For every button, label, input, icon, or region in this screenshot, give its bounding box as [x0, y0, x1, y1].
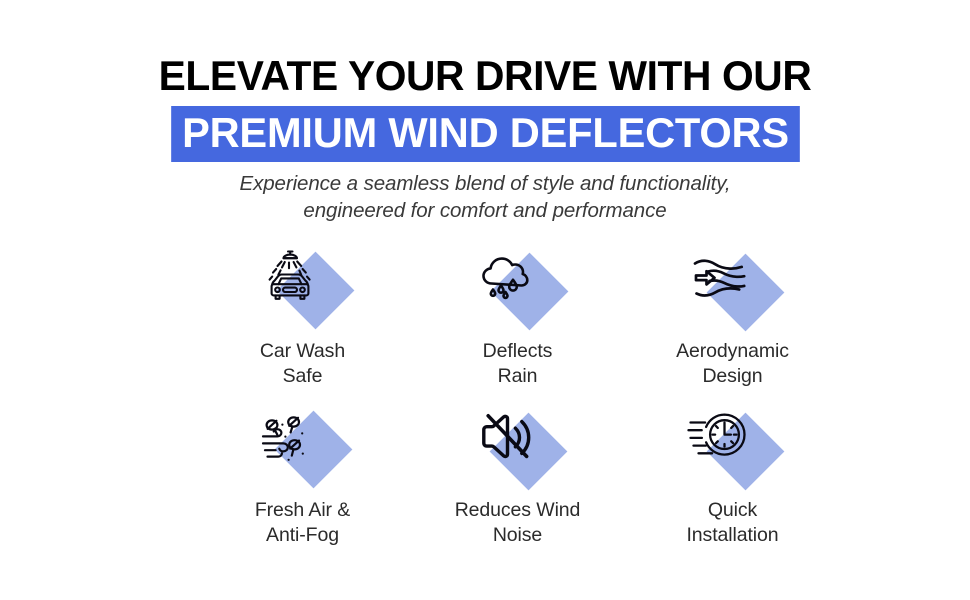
leaves-wind-icon	[258, 406, 322, 470]
feature-label: Aerodynamic Design	[625, 339, 840, 389]
feature-label: Reduces Wind Noise	[410, 498, 625, 548]
icon-stage	[678, 243, 788, 327]
subtitle-line-1: Experience a seamless blend of style and…	[0, 170, 970, 197]
feature-label: Deflects Rain	[410, 339, 625, 389]
promo-banner: ELEVATE YOUR DRIVE WITH OUR PREMIUM WIND…	[0, 0, 970, 600]
feature-label-line-2: Safe	[195, 364, 410, 389]
car-wash-icon	[258, 245, 322, 309]
icon-stage	[248, 402, 358, 486]
feature-label-line-1: Fresh Air &	[195, 498, 410, 523]
headline-highlight-wrap: PREMIUM WIND DEFLECTORS	[0, 106, 970, 162]
feature-label-line-2: Anti-Fog	[195, 523, 410, 548]
subtitle-line-2: engineered for comfort and performance	[0, 197, 970, 224]
feature-label-line-1: Aerodynamic	[625, 339, 840, 364]
feature-item-fresh-air-anti-fog: Fresh Air & Anti-Fog	[195, 402, 410, 548]
subtitle: Experience a seamless blend of style and…	[0, 170, 970, 224]
feature-row: Car Wash Safe	[195, 243, 840, 389]
fast-clock-icon	[686, 405, 750, 469]
feature-item-reduces-wind-noise: Reduces Wind Noise	[410, 402, 625, 548]
feature-item-car-wash-safe: Car Wash Safe	[195, 243, 410, 389]
headline-line-2-highlighted: PREMIUM WIND DEFLECTORS	[171, 106, 800, 162]
muted-speaker-icon	[476, 405, 540, 469]
rain-cloud-icon	[475, 246, 539, 310]
feature-item-deflects-rain: Deflects Rain	[410, 243, 625, 389]
feature-label-line-1: Deflects	[410, 339, 625, 364]
feature-item-quick-installation: Quick Installation	[625, 402, 840, 548]
feature-row: Fresh Air & Anti-Fog	[195, 402, 840, 548]
feature-label-line-1: Car Wash	[195, 339, 410, 364]
feature-label-line-2: Rain	[410, 364, 625, 389]
wind-streamlines-icon	[688, 249, 752, 313]
feature-item-aerodynamic-design: Aerodynamic Design	[625, 243, 840, 389]
feature-label-line-1: Quick	[625, 498, 840, 523]
feature-label-line-2: Noise	[410, 523, 625, 548]
feature-grid: Car Wash Safe	[195, 243, 840, 548]
headline-block: ELEVATE YOUR DRIVE WITH OUR PREMIUM WIND…	[0, 52, 970, 162]
feature-label: Car Wash Safe	[195, 339, 410, 389]
feature-label: Quick Installation	[625, 498, 840, 548]
feature-label: Fresh Air & Anti-Fog	[195, 498, 410, 548]
icon-stage	[463, 243, 573, 327]
icon-stage	[678, 402, 788, 486]
headline-line-1: ELEVATE YOUR DRIVE WITH OUR	[15, 52, 956, 100]
icon-stage	[463, 402, 573, 486]
feature-label-line-2: Installation	[625, 523, 840, 548]
feature-label-line-2: Design	[625, 364, 840, 389]
feature-label-line-1: Reduces Wind	[410, 498, 625, 523]
icon-stage	[248, 243, 358, 327]
